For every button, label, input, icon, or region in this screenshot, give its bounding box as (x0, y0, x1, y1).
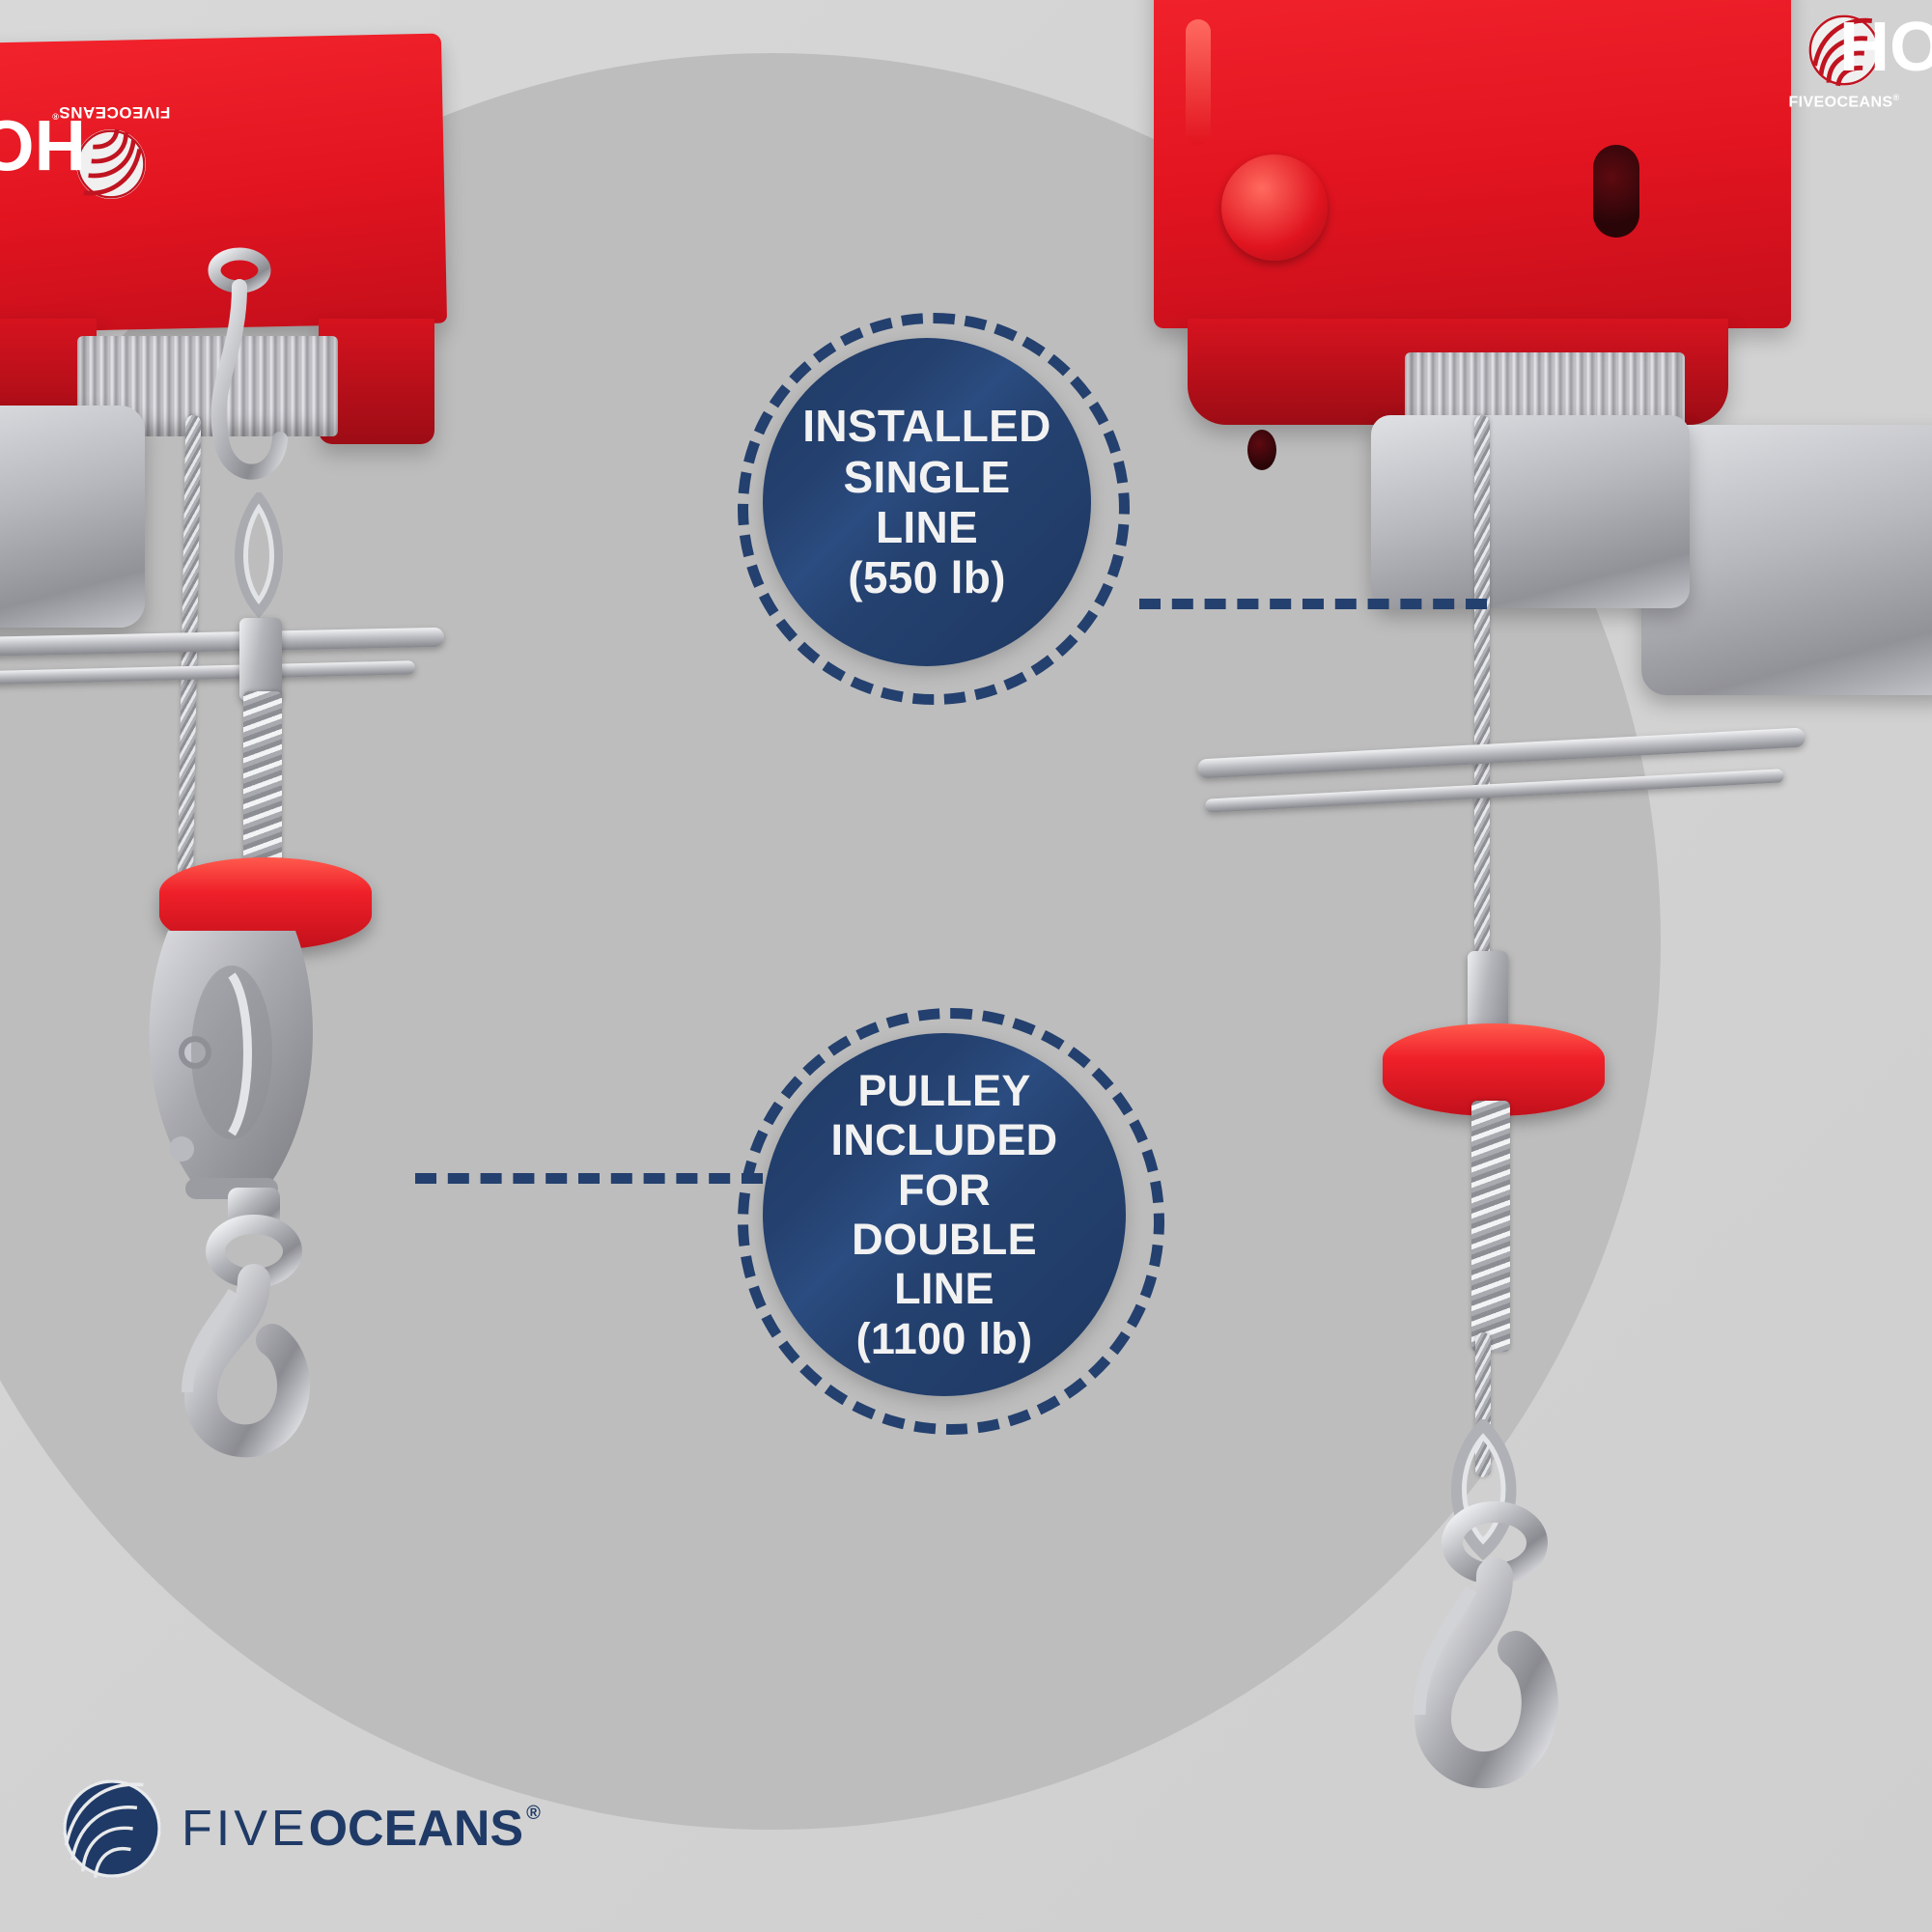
left-pulley-block (135, 908, 328, 1217)
right-hoist-rib (1186, 19, 1211, 145)
callout-2-connector (415, 1173, 763, 1184)
logo-text-five: FIVE (182, 1800, 309, 1858)
callout-2-badge: PULLEY INCLUDED FOR DOUBLE LINE (1100 lb… (763, 1033, 1126, 1396)
logo-registered-mark: ® (526, 1804, 542, 1823)
right-brand-registered: ® (1892, 93, 1899, 102)
right-brand-text: FIVEOCEANS (1788, 95, 1892, 111)
right-hoist-model-text: HOI (1839, 8, 1932, 87)
callout-1-line-1: INSTALLED (796, 401, 1058, 451)
callout-1-line-2: SINGLE LINE (796, 452, 1058, 553)
left-cable-stop-ferrule (239, 618, 282, 701)
five-oceans-globe-icon (60, 1777, 164, 1881)
callout-1-line-3: (550 lb) (796, 552, 1058, 602)
right-hoist-boss (1221, 154, 1328, 261)
brand-logo: FIVE OCEANS ® (60, 1777, 542, 1881)
left-hoist-model-text: HO (0, 104, 86, 186)
right-hanging-cable (1474, 415, 1490, 975)
right-hoist-vent-hole (1247, 430, 1276, 470)
logo-text-oceans: OCEANS (309, 1800, 523, 1858)
left-motor-housing (0, 406, 145, 628)
right-stop-spring (1471, 1101, 1510, 1352)
callout-2-line-1: PULLEY (796, 1066, 1093, 1115)
callout-2-line-3: DOUBLE LINE (796, 1215, 1093, 1314)
right-hoist-bolt-hole (1593, 145, 1639, 238)
left-lifting-hook (145, 1188, 367, 1506)
callout-2-line-2: INCLUDED FOR (796, 1115, 1093, 1215)
callout-2-line-4: (1100 lb) (796, 1314, 1093, 1363)
left-stop-spring (243, 691, 282, 875)
callout-1-badge: INSTALLED SINGLE LINE (550 lb) (763, 338, 1091, 666)
brand-logo-wordmark: FIVE OCEANS ® (182, 1800, 542, 1858)
right-gearbox-housing (1371, 415, 1690, 608)
callout-1-connector (1139, 599, 1487, 609)
right-lifting-hook (1371, 1487, 1622, 1854)
infographic-canvas: FIVEOCEANS® HO (0, 0, 1932, 1932)
